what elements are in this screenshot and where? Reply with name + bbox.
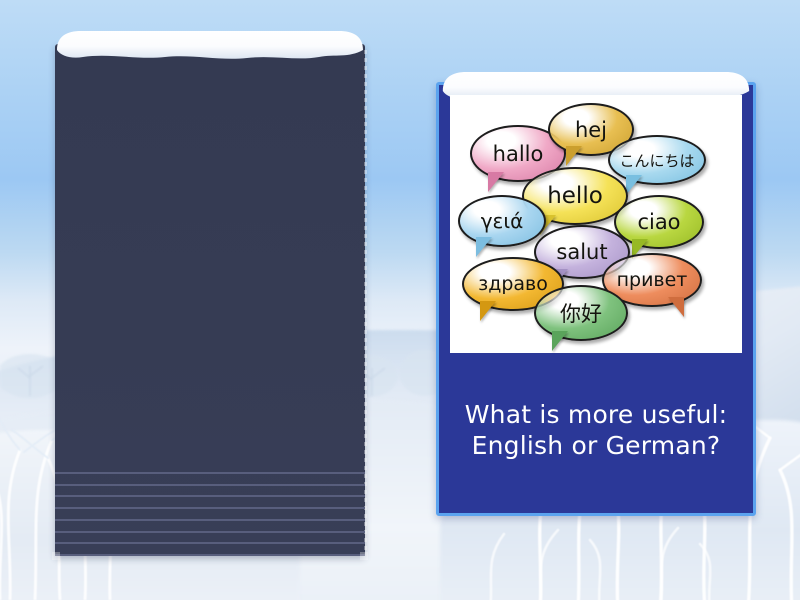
writing-line [55, 554, 365, 556]
answer-card[interactable] [55, 44, 365, 556]
speech-bubble-tail [480, 301, 496, 321]
speech-bubble-tail [552, 331, 568, 351]
writing-line [55, 507, 365, 509]
speech-bubble-text: hallo [493, 142, 544, 166]
speech-bubble-text: привет [617, 269, 688, 291]
writing-line [55, 531, 365, 533]
speech-bubble-text: γειά [481, 209, 524, 233]
card-corner-handle [52, 552, 60, 560]
writing-line [55, 519, 365, 521]
question-line-1: What is more useful: [465, 400, 728, 429]
question-text: What is more useful: English or German? [450, 400, 742, 461]
answer-writing-lines [55, 472, 365, 556]
speech-bubble-italian: ciao [614, 195, 704, 249]
speech-bubble-text: 你好 [560, 298, 602, 328]
speech-bubble-tail [626, 175, 642, 195]
speech-bubble-tail [488, 172, 504, 192]
speech-bubble-chinese: 你好 [534, 285, 628, 341]
speech-bubble-tail [566, 146, 582, 166]
speech-bubble-tail [668, 297, 684, 317]
speech-bubble-text: こんにちは [619, 150, 694, 171]
writing-line [55, 484, 365, 486]
speech-bubble-greek: γειά [458, 195, 546, 247]
question-line-2: English or German? [460, 431, 732, 462]
activity-scene: hallohejこんにちはhelloγειάciaosalutздравопри… [0, 0, 800, 600]
writing-line [55, 495, 365, 497]
speech-bubble-text: hello [547, 183, 603, 209]
question-card[interactable]: hallohejこんにちはhelloγειάciaosalutздравопри… [436, 82, 756, 516]
speech-bubble-text: hej [575, 118, 607, 142]
speech-bubble-cloud: hallohejこんにちはhelloγειάciaosalutздравопри… [450, 95, 742, 353]
question-image: hallohejこんにちはhelloγειάciaosalutздравопри… [450, 95, 742, 353]
speech-bubble-text: здраво [478, 273, 548, 295]
writing-line [55, 472, 365, 474]
snow-cap-answer-card [49, 28, 371, 62]
speech-bubble-text: ciao [637, 210, 680, 234]
speech-bubble-japanese: こんにちは [608, 135, 706, 185]
writing-line [55, 542, 365, 544]
card-corner-handle [360, 552, 368, 560]
speech-bubble-text: salut [556, 240, 607, 264]
speech-bubble-tail [476, 237, 492, 257]
